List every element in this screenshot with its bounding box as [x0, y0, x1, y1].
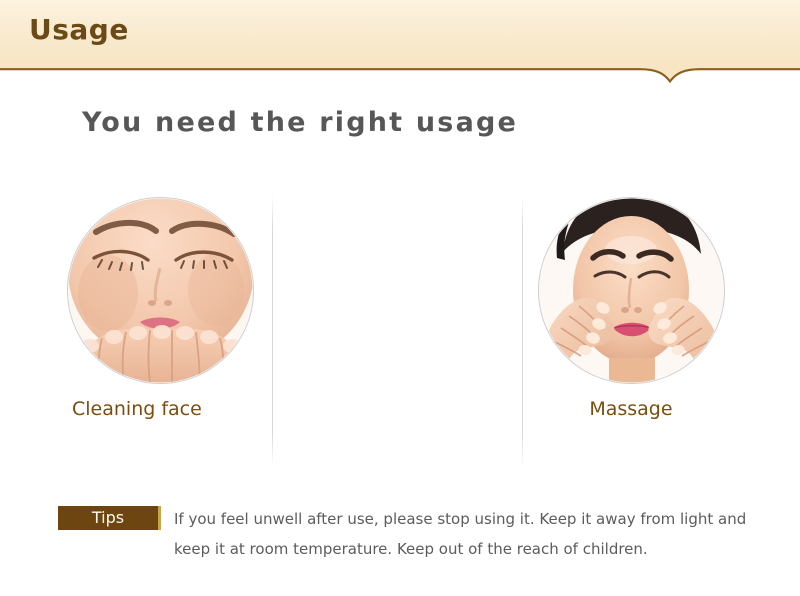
section-headline: You need the right usage — [82, 107, 518, 138]
page-banner: Usage — [0, 0, 800, 69]
usage-step-cleaning-face: Cleaning face — [40, 190, 283, 465]
tips-text: If you feel unwell after use, please sto… — [174, 504, 754, 564]
banner-bottom-border-with-notch — [0, 60, 800, 95]
usage-steps-row: Cleaning face — [40, 190, 770, 465]
tips-badge: Tips — [58, 506, 161, 530]
step-caption: Cleaning face — [72, 398, 202, 420]
usage-step-match-with: BIOAQUA ESSENCE Advanced Night Repair Ey… — [527, 190, 770, 465]
usage-step-massage: Massage — [283, 190, 526, 465]
woman-washing-face-photo — [68, 198, 253, 383]
page-title: Usage — [29, 13, 129, 46]
